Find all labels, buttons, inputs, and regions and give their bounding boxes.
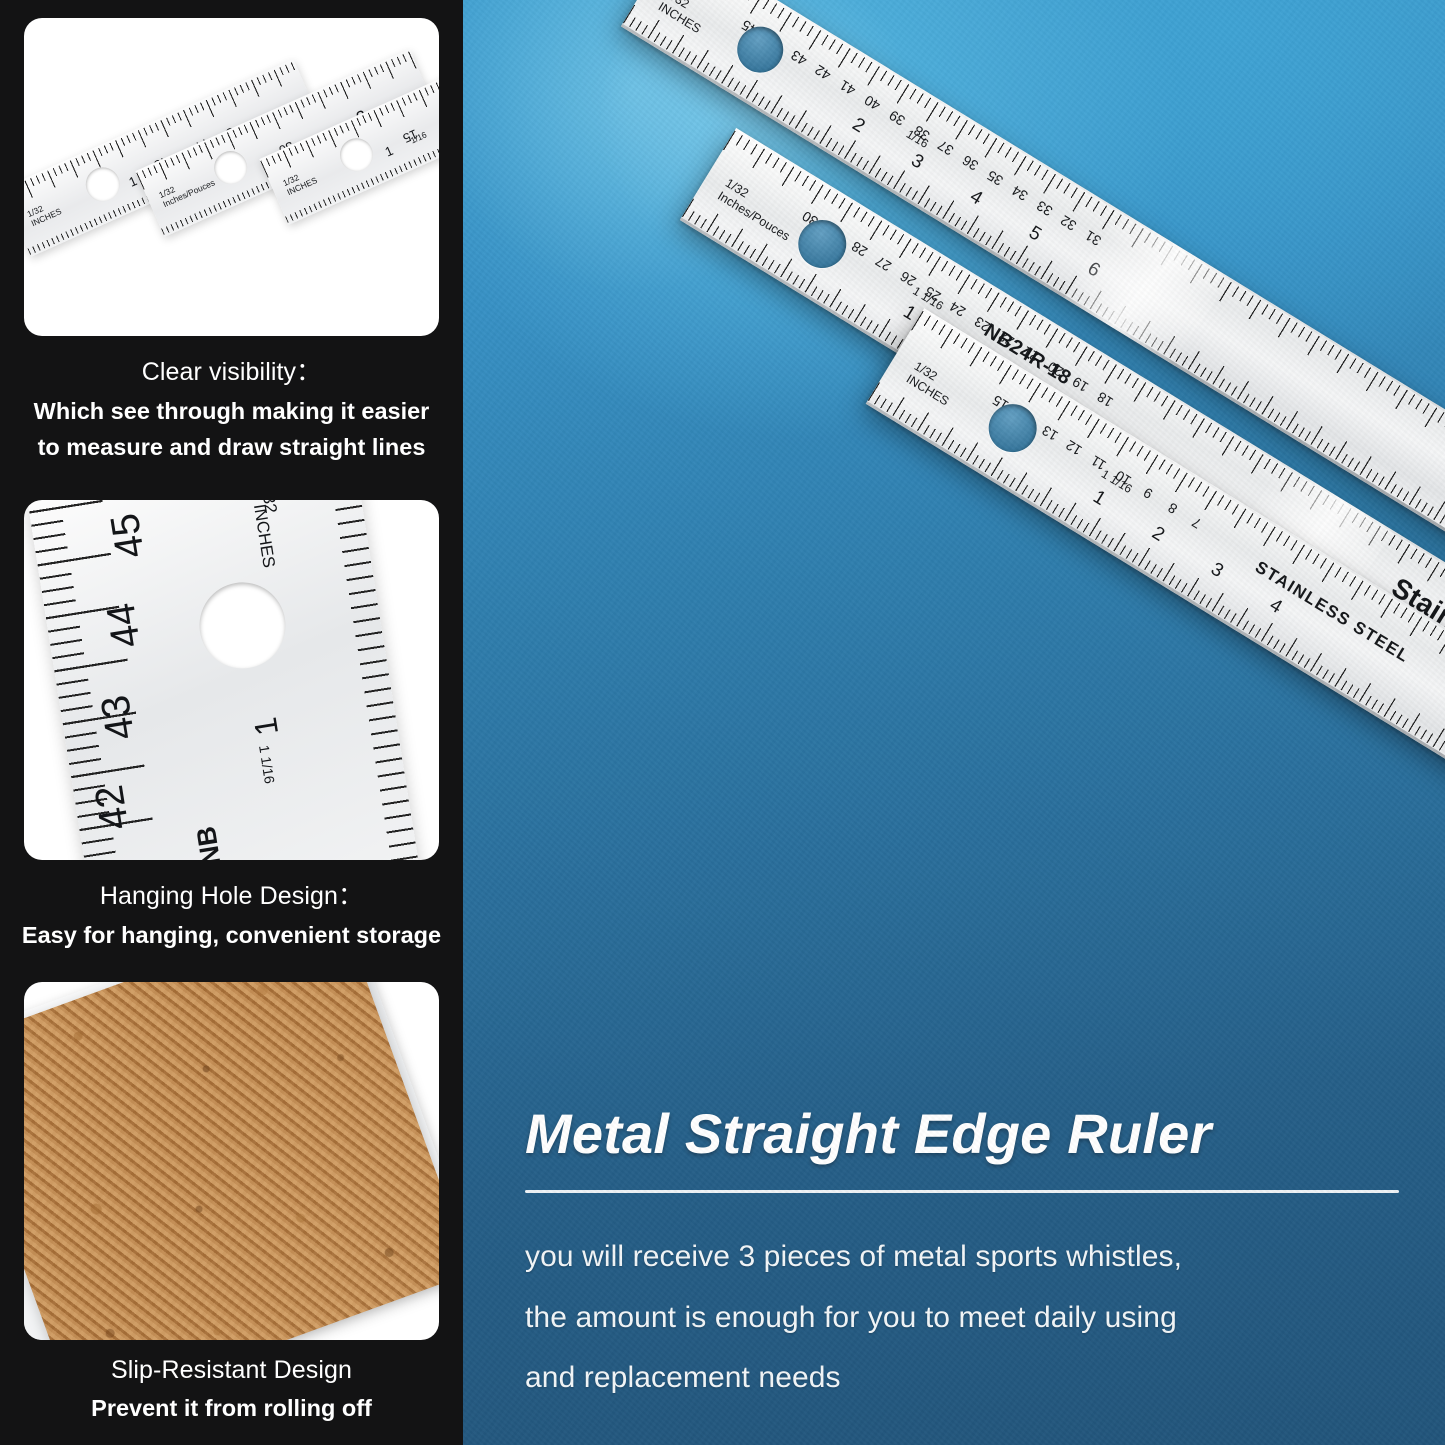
feature-desc-line: Prevent it from rolling off — [0, 1391, 463, 1427]
cork-backing — [24, 982, 439, 1340]
title-divider — [525, 1190, 1399, 1193]
feature-image-clear-visibility: 1/32 INCHES 45 44 1 1/16 2 1/32 — [24, 18, 439, 336]
ruler-end-label-top: 1/32 INCHES — [656, 0, 712, 37]
feature-image-hanging-hole: 45 44 43 42 1/32 INCHES 1 1 1/16 NB — [24, 500, 439, 860]
feature-title: Hanging Hole Design： — [0, 876, 463, 912]
end-label: 1/32 INCHES — [282, 167, 319, 198]
feature-title: Slip-Resistant Design — [0, 1356, 463, 1385]
brand-partial: NB — [191, 824, 228, 860]
ruler-closeup: 45 44 43 42 1/32 INCHES 1 1 1/16 NB — [28, 500, 423, 860]
ruler-end-label-bottom: 1/32 INCHES — [904, 359, 960, 409]
hanging-hole — [193, 576, 291, 674]
hero-description-line: and replacement needs — [525, 1348, 1399, 1409]
feature-desc-line: Easy for hanging, convenient storage — [0, 918, 463, 954]
feature-caption-clear-visibility: Clear visibility： Which see through maki… — [0, 352, 463, 465]
feature-title: Clear visibility： — [0, 352, 463, 388]
feature-caption-slip-resistant: Slip-Resistant Design Prevent it from ro… — [0, 1356, 463, 1427]
hero-description-line: you will receive 3 pieces of metal sport… — [525, 1227, 1399, 1288]
hero-copy: Metal Straight Edge Ruler you will recei… — [525, 1105, 1399, 1409]
tick-marks-fine-right — [300, 500, 422, 860]
feature-card-hanging-hole[interactable]: 45 44 43 42 1/32 INCHES 1 1 1/16 NB Hang… — [0, 500, 463, 954]
hero-stage: 45 44 43 42 41 40 39 38 37 36 35 34 33 3… — [463, 0, 1445, 1445]
fraction-label: 1 1/16 — [256, 744, 278, 785]
metric-number: 43 — [93, 692, 144, 743]
inch-number: 1 — [383, 143, 396, 160]
hero-description: you will receive 3 pieces of metal sport… — [525, 1227, 1399, 1409]
feature-desc-line: to measure and draw straight lines — [0, 430, 463, 466]
feature-desc-line: Which see through making it easier — [0, 394, 463, 430]
page-title: Metal Straight Edge Ruler — [525, 1105, 1399, 1164]
end-label: 1/32 INCHES — [26, 198, 63, 229]
feature-card-clear-visibility[interactable]: 1/32 INCHES 45 44 1 1/16 2 1/32 — [0, 18, 463, 465]
metric-number: 45 — [103, 510, 154, 561]
inch-number: 1 — [247, 715, 286, 738]
ruler-end-label-middle: 1/32 Inches/Pouces — [715, 176, 800, 244]
feature-image-slip-resistant — [24, 982, 439, 1340]
metric-number: 7 — [1180, 509, 1213, 538]
metric-number: 42 — [87, 782, 138, 833]
feature-caption-hanging-hole: Hanging Hole Design： Easy for hanging, c… — [0, 876, 463, 954]
ruler-bottom-edge — [680, 217, 1445, 894]
unit-label: INCHES — [249, 503, 279, 570]
metric-number: 31 — [1077, 224, 1110, 253]
hero-description-line: the amount is enough for you to meet dai… — [525, 1288, 1399, 1349]
product-infographic: 45 44 43 42 41 40 39 38 37 36 35 34 33 3… — [0, 0, 1445, 1445]
metric-number: 44 — [99, 600, 150, 651]
feature-sidebar: 1/32 INCHES 45 44 1 1/16 2 1/32 — [0, 0, 463, 1445]
metric-number: 18 — [1088, 385, 1121, 414]
feature-card-slip-resistant[interactable]: Slip-Resistant Design Prevent it from ro… — [0, 982, 463, 1427]
